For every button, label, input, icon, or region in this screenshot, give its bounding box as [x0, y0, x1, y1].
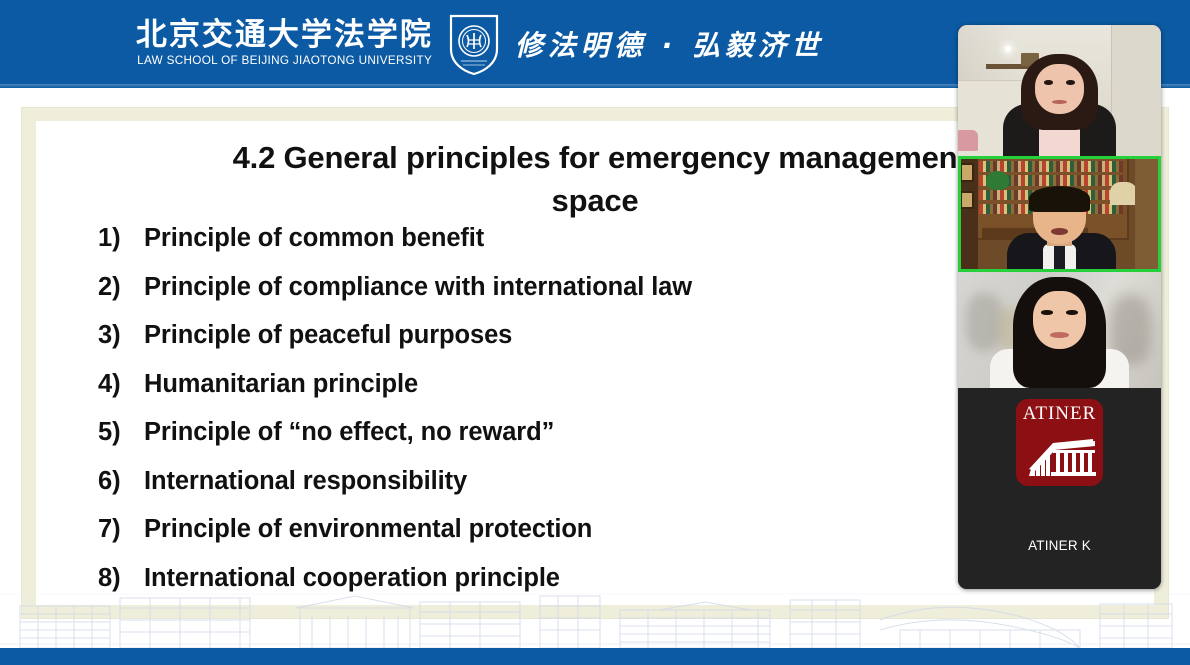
slide-footer-band — [0, 648, 1190, 665]
video-participants-panel[interactable]: ATINER — [958, 25, 1161, 589]
school-motto-calligraphy: 修法明德 · 弘毅济世 — [515, 24, 824, 64]
university-shield-icon — [447, 11, 501, 77]
list-item-number: 3) — [98, 321, 144, 350]
campus-skyline-decoration — [0, 586, 1190, 648]
atiner-avatar: ATINER — [958, 388, 1161, 589]
video-tile-participant-2[interactable] — [958, 156, 1161, 272]
parthenon-temple-icon — [1023, 425, 1097, 477]
list-item-number: 4) — [98, 370, 144, 399]
list-item-number: 7) — [98, 515, 144, 544]
list-item-number: 6) — [98, 467, 144, 496]
screen-root: 北京交通大学法学院 LAW SCHOOL OF BEIJING JIAOTONG… — [0, 0, 1190, 665]
list-item-number: 5) — [98, 418, 144, 447]
slide-title: 4.2 General principles for emergency man… — [80, 137, 1110, 223]
video-tile-participant-1[interactable] — [958, 25, 1161, 156]
school-name-block: 北京交通大学法学院 LAW SCHOOL OF BEIJING JIAOTONG… — [136, 20, 433, 68]
video-tile-participant-atiner[interactable]: ATINER — [958, 388, 1161, 589]
atiner-wordmark: ATINER — [1023, 404, 1097, 423]
school-name-english: LAW SCHOOL OF BEIJING JIAOTONG UNIVERSIT… — [137, 56, 432, 68]
list-item-number: 2) — [98, 273, 144, 302]
video-feed-background — [958, 25, 1161, 156]
slide-title-line1: 4.2 General principles for emergency man… — [233, 140, 958, 175]
slide-title-line2: space — [552, 183, 639, 218]
list-item-number: 1) — [98, 224, 144, 253]
school-name-chinese: 北京交通大学法学院 — [136, 20, 433, 51]
school-branding: 北京交通大学法学院 LAW SCHOOL OF BEIJING JIAOTONG… — [0, 0, 960, 88]
video-feed-background — [958, 156, 1161, 272]
video-tile-participant-3[interactable] — [958, 272, 1161, 388]
atiner-logo-icon: ATINER — [1016, 399, 1103, 486]
video-feed-background — [958, 272, 1161, 388]
participant-name-label: ATINER K — [1028, 538, 1091, 553]
